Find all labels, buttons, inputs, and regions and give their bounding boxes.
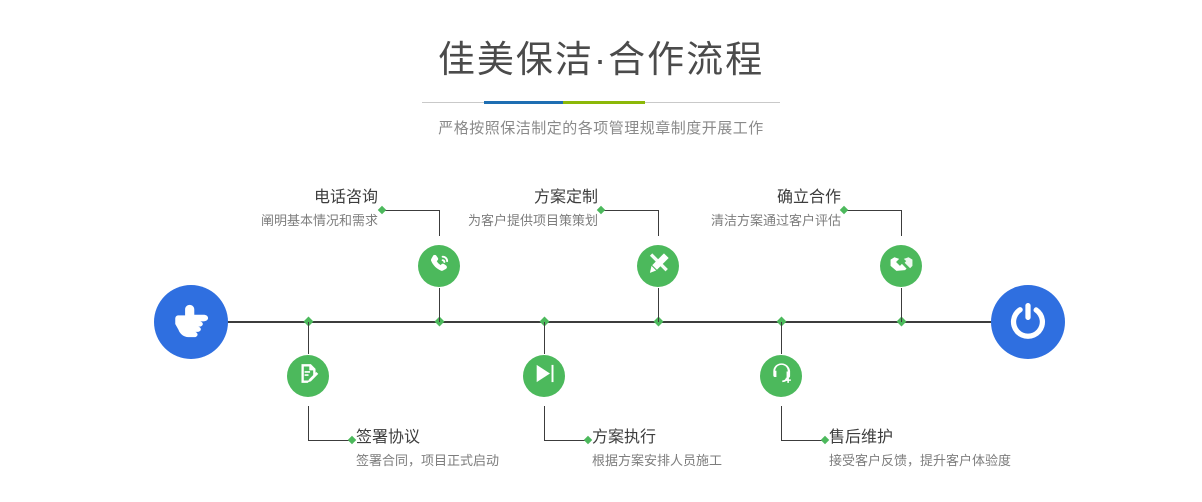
step-title: 电话咨询 [150, 188, 378, 208]
timeline-start-endpoint [154, 285, 228, 359]
connector-vertical [308, 406, 309, 440]
step-icon-3[interactable] [637, 245, 679, 287]
step-label-5: 确立合作 清洁方案通过客户评估 [613, 188, 841, 230]
connector-vertical [658, 288, 659, 322]
connector-vertical [308, 322, 309, 354]
step-icon-1[interactable] [418, 245, 460, 287]
step-desc: 阐明基本情况和需求 [150, 211, 378, 230]
step-label-2: 签署协议 签署合同，项目正式启动 [356, 428, 499, 470]
step-icon-4[interactable] [523, 355, 565, 397]
pencil-ruler-icon [646, 251, 671, 281]
handshake-icon [889, 251, 914, 281]
step-desc: 清洁方案通过客户评估 [613, 211, 841, 230]
step-icon-6[interactable] [760, 355, 802, 397]
step-title: 售后维护 [829, 428, 1011, 448]
step-desc: 为客户提供项目策策划 [370, 211, 598, 230]
step-label-1: 电话咨询 阐明基本情况和需求 [150, 188, 378, 230]
connector-vertical [901, 288, 902, 322]
label-marker [348, 436, 356, 444]
label-marker [840, 206, 848, 214]
pointing-hand-icon [170, 299, 212, 346]
step-title: 确立合作 [613, 188, 841, 208]
label-marker [597, 206, 605, 214]
flow-diagram-page: 佳美保洁·合作流程 严格按照保洁制定的各项管理规章制度开展工作 [0, 0, 1202, 502]
step-icon-5[interactable] [880, 245, 922, 287]
document-pen-icon [296, 361, 321, 391]
connector-horizontal [781, 440, 825, 441]
connector-vertical [901, 210, 902, 236]
connector-horizontal [846, 210, 902, 211]
connector-vertical [544, 406, 545, 440]
timeline: 电话咨询 阐明基本情况和需求 签署协议 签署合同，项目正式启动 [0, 0, 1202, 502]
step-icon-2[interactable] [287, 355, 329, 397]
step-title: 方案定制 [370, 188, 598, 208]
step-label-4: 方案执行 根据方案安排人员施工 [592, 428, 722, 470]
play-skip-icon [532, 361, 557, 391]
step-title: 签署协议 [356, 428, 499, 448]
step-desc: 根据方案安排人员施工 [592, 451, 722, 470]
connector-horizontal [308, 440, 352, 441]
step-label-6: 售后维护 接受客户反馈，提升客户体验度 [829, 428, 1011, 470]
connector-horizontal [544, 440, 588, 441]
connector-vertical [544, 322, 545, 354]
timeline-end-endpoint [991, 285, 1065, 359]
step-desc: 签署合同，项目正式启动 [356, 451, 499, 470]
headset-plus-icon [769, 361, 794, 391]
label-marker [584, 436, 592, 444]
step-desc: 接受客户反馈，提升客户体验度 [829, 451, 1011, 470]
phone-ringing-icon [427, 251, 452, 281]
step-title: 方案执行 [592, 428, 722, 448]
step-label-3: 方案定制 为客户提供项目策策划 [370, 188, 598, 230]
connector-vertical [781, 322, 782, 354]
power-icon [1007, 299, 1049, 346]
label-marker [821, 436, 829, 444]
connector-vertical [781, 406, 782, 440]
connector-vertical [439, 288, 440, 322]
